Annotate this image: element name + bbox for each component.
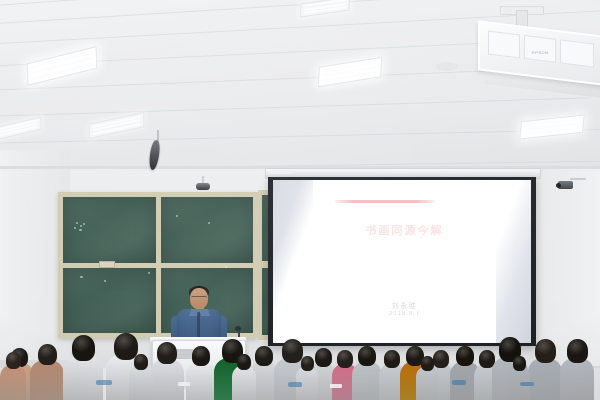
audience-torso xyxy=(416,366,438,400)
ceiling-light-fixture xyxy=(318,57,382,87)
projector-brand-label: EPSON xyxy=(532,50,549,55)
audience-torso xyxy=(30,360,64,400)
audience-member xyxy=(150,330,184,400)
classroom-photo-scene: EPSON 书画同源今解 刘永胜 2018.9.7 xyxy=(0,0,600,400)
audience-head xyxy=(513,356,526,371)
desk-edge xyxy=(452,380,466,385)
slide-title: 书画同源今解 xyxy=(313,222,496,238)
chalk-mark xyxy=(225,266,227,268)
blackboard-panel xyxy=(63,197,156,263)
audience-head xyxy=(134,354,148,370)
chalk-mark xyxy=(80,225,82,227)
ceiling-light-fixture xyxy=(27,46,98,86)
audience-member xyxy=(129,330,153,400)
slide-author: 刘永胜 xyxy=(313,301,496,311)
audience-head xyxy=(384,350,400,368)
audience-member xyxy=(416,330,438,400)
blackboard xyxy=(58,192,258,338)
audience-member xyxy=(30,330,64,400)
chalk-mark xyxy=(208,222,210,224)
blackboard-chalk-tray xyxy=(99,261,115,268)
camera-lens-icon xyxy=(556,183,561,188)
ceiling-seam xyxy=(0,96,600,117)
chalk-mark xyxy=(176,215,178,217)
screen-housing-endcap xyxy=(270,170,292,174)
audience-head xyxy=(301,356,314,371)
audience-torso xyxy=(352,361,382,400)
right-wall-camera-arm xyxy=(570,178,586,180)
audience-torso xyxy=(560,358,594,400)
audience-rows xyxy=(0,330,600,400)
audience-head xyxy=(337,350,353,368)
audience-head xyxy=(192,346,210,366)
cage-window xyxy=(560,39,594,67)
cage-window xyxy=(488,30,520,58)
audience-head xyxy=(421,356,434,371)
audience-member xyxy=(0,330,26,400)
desk-edge xyxy=(520,382,534,386)
ceiling-light-fixture xyxy=(0,116,42,140)
audience-member xyxy=(232,330,256,400)
notebook xyxy=(178,382,190,386)
chalk-mark xyxy=(104,280,106,282)
audience-member xyxy=(528,330,562,400)
cage-window xyxy=(524,35,556,63)
blackboard-panel xyxy=(161,197,254,263)
audience-torso xyxy=(150,359,184,400)
audience-member xyxy=(508,330,530,400)
notebook xyxy=(330,384,342,388)
audience-torso xyxy=(63,356,103,400)
chalk-mark xyxy=(76,222,78,224)
chalk-mark xyxy=(148,272,150,274)
audience-torso xyxy=(528,358,562,400)
blackboard-panel xyxy=(63,268,156,334)
security-camera-icon xyxy=(196,183,210,190)
glasses-icon xyxy=(191,296,207,301)
speaker-collar-right xyxy=(199,309,210,316)
slide-date: 2018.9.7 xyxy=(313,311,496,317)
ceiling-light-fixture xyxy=(89,112,145,139)
audience-torso xyxy=(232,365,256,400)
audience-head xyxy=(255,346,273,366)
ceiling-speaker-icon xyxy=(436,62,458,71)
audience-head xyxy=(358,346,376,366)
audience-head xyxy=(237,354,251,370)
audience-head xyxy=(456,346,474,366)
audience-head xyxy=(38,344,57,365)
slide-divider-rule xyxy=(335,200,435,203)
chalk-mark xyxy=(83,223,85,225)
audience-head xyxy=(535,339,556,363)
projected-slide: 书画同源今解 刘永胜 2018.9.7 xyxy=(313,180,496,343)
chalk-mark xyxy=(79,229,82,231)
ceiling-light-fixture xyxy=(519,115,585,140)
chalk-mark xyxy=(80,276,83,278)
audience-torso xyxy=(186,361,216,400)
desk-edge xyxy=(96,380,112,385)
audience-member xyxy=(352,330,382,400)
audience-member xyxy=(560,330,594,400)
audience-member xyxy=(296,330,318,400)
desk-edge xyxy=(288,382,302,387)
audience-member xyxy=(63,330,103,400)
audience-torso xyxy=(129,365,153,400)
chalk-mark xyxy=(74,227,76,229)
audience-torso xyxy=(0,364,26,400)
ceiling-light-fixture xyxy=(300,0,351,18)
audience-head xyxy=(157,342,177,364)
audience-head xyxy=(72,335,95,361)
audience-head xyxy=(567,339,588,363)
audience-member xyxy=(186,330,216,400)
audience-head xyxy=(6,352,21,369)
